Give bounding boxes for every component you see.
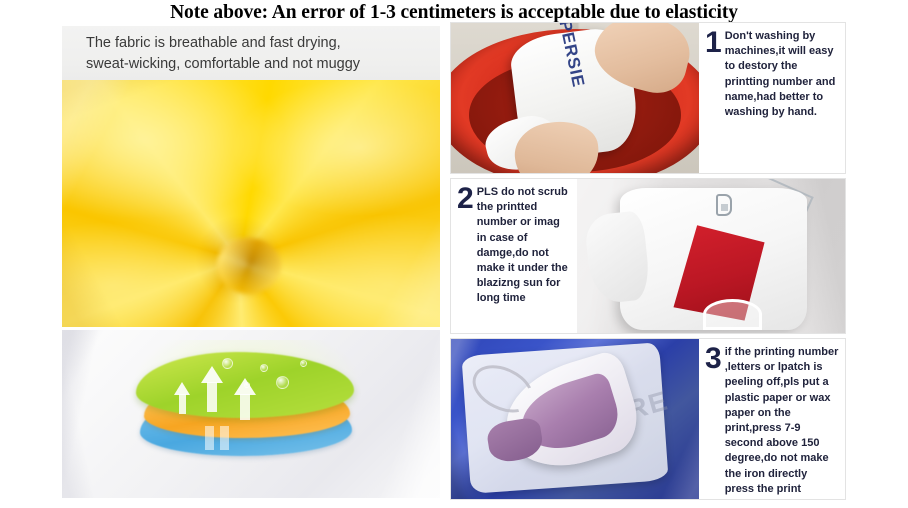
jersey-collar [703,299,762,330]
care-panel-1-text: 1 Don't washing by machines,it will easy… [699,23,845,173]
care-panel-2-photo [577,179,845,333]
care-panel-3-text: 3 if the printing number ,letters or lpa… [699,339,845,499]
care-panel-1-body: Don't washing by machines,it will easy t… [725,29,839,120]
care-panel-3-number: 3 [705,346,722,371]
care-panel-3-photo: PRE [451,339,699,499]
care-panel-2-text: 2 PLS do not scrub the printted number o… [451,179,577,333]
moisture-arrow-stem [179,394,186,414]
care-panel-1-photo: PERSIE [451,23,699,173]
water-bubble-icon [222,358,233,369]
care-instructions-column: PERSIE 1 Don't washing by machines,it wi… [450,22,846,500]
fabric-caption-line-1: The fabric is breathable and fast drying… [86,33,440,54]
care-panel-2: 2 PLS do not scrub the printted number o… [450,178,846,334]
fabric-caption: The fabric is breathable and fast drying… [62,26,440,80]
care-panel-1-number: 1 [705,30,722,55]
care-panel-3: PRE 3 if the printing number ,letters or… [450,338,846,500]
water-bubble-icon [244,382,250,388]
water-bubble-icon [300,360,307,367]
care-panel-3-body: if the printing number ,letters or lpatc… [725,345,839,497]
moisture-arrow-icon [201,366,223,383]
page-heading: Note above: An error of 1-3 centimeters … [0,2,908,24]
moisture-arrow-stem [240,394,250,420]
fabric-swirl-center [217,238,281,294]
fabric-feature-column: The fabric is breathable and fast drying… [62,26,440,498]
care-panel-2-body: PLS do not scrub the printted number or … [477,185,571,307]
care-panel-1: PERSIE 1 Don't washing by machines,it wi… [450,22,846,174]
moisture-arrow-stem [207,382,217,412]
moisture-arrow-stem [220,426,229,450]
product-detail-infographic: Note above: An error of 1-3 centimeters … [0,0,908,508]
moisture-arrow-stem [205,426,214,450]
brand-logo-icon [716,194,732,216]
water-bubble-icon [276,376,289,389]
water-bubble-icon [260,364,268,372]
care-panel-2-number: 2 [457,186,474,211]
fabric-caption-line-2: sweat-wicking, comfortable and not muggy [86,54,440,75]
yellow-fabric-photo [62,80,440,327]
fabric-layers-diagram [62,330,440,498]
